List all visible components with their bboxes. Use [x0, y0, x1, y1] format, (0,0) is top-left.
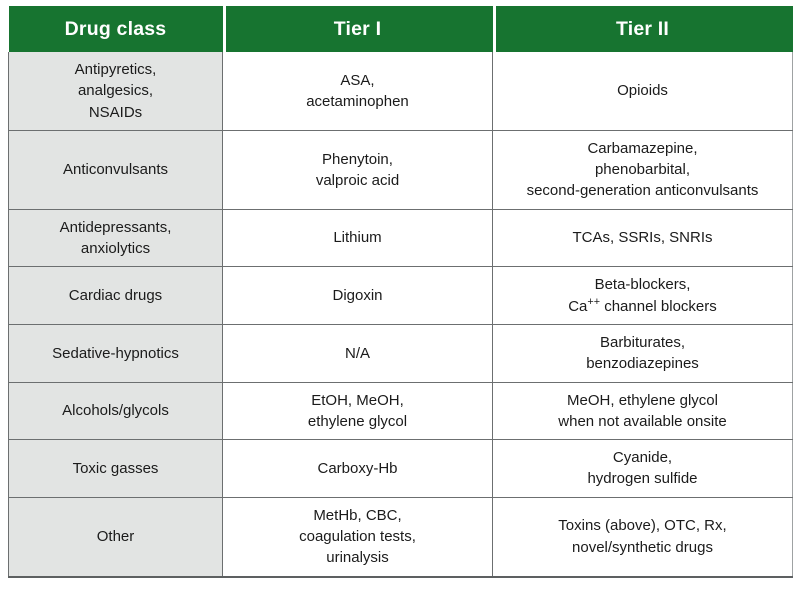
cell-line: Sedative-hypnotics [18, 343, 213, 364]
cell-tier-1: Phenytoin,valproic acid [223, 130, 493, 209]
cell-tier-2: Cyanide,hydrogen sulfide [493, 440, 793, 498]
cell-line: Digoxin [232, 285, 483, 306]
cell-line: Opioids [502, 80, 783, 101]
cell-tier-2: MeOH, ethylene glycolwhen not available … [493, 382, 793, 440]
cell-line: valproic acid [232, 170, 483, 191]
cell-tier-2: Beta-blockers,Ca++ channel blockers [493, 267, 793, 325]
drug-class-tier-table: Drug class Tier I Tier II Antipyretics,a… [8, 6, 793, 578]
table-row: AnticonvulsantsPhenytoin,valproic acidCa… [9, 130, 793, 209]
column-header-tier-2: Tier II [493, 6, 793, 52]
table-row: Antipyretics,analgesics,NSAIDsASA,acetam… [9, 52, 793, 130]
cell-line: urinalysis [232, 547, 483, 568]
cell-tier-2: Barbiturates,benzodiazepines [493, 324, 793, 382]
cell-tier-1: EtOH, MeOH,ethylene glycol [223, 382, 493, 440]
cell-line: Other [18, 526, 213, 547]
table-row: Sedative-hypnoticsN/ABarbiturates,benzod… [9, 324, 793, 382]
cell-line: Alcohols/glycols [18, 400, 213, 421]
cell-drug-class: Alcohols/glycols [9, 382, 223, 440]
cell-drug-class: Antidepressants,anxiolytics [9, 209, 223, 267]
cell-line: Anticonvulsants [18, 159, 213, 180]
cell-line: Barbiturates, [502, 332, 783, 353]
cell-line: NSAIDs [18, 102, 213, 123]
cell-line: EtOH, MeOH, [232, 390, 483, 411]
cell-line: anxiolytics [18, 238, 213, 259]
cell-line: when not available onsite [502, 411, 783, 432]
cell-line: Ca++ channel blockers [502, 296, 783, 317]
cell-tier-1: MetHb, CBC,coagulation tests,urinalysis [223, 497, 493, 576]
cell-line: Antipyretics, [18, 59, 213, 80]
cell-drug-class: Toxic gasses [9, 440, 223, 498]
cell-line: Beta-blockers, [502, 274, 783, 295]
table-row: Toxic gassesCarboxy-HbCyanide,hydrogen s… [9, 440, 793, 498]
cell-drug-class: Anticonvulsants [9, 130, 223, 209]
cell-tier-2: Toxins (above), OTC, Rx,novel/synthetic … [493, 497, 793, 576]
cell-drug-class: Other [9, 497, 223, 576]
table-body: Antipyretics,analgesics,NSAIDsASA,acetam… [9, 52, 793, 577]
cell-line: Cyanide, [502, 447, 783, 468]
cell-line: MetHb, CBC, [232, 505, 483, 526]
cell-line: Cardiac drugs [18, 285, 213, 306]
cell-tier-1: Carboxy-Hb [223, 440, 493, 498]
cell-line: MeOH, ethylene glycol [502, 390, 783, 411]
table-row: Alcohols/glycolsEtOH, MeOH,ethylene glyc… [9, 382, 793, 440]
cell-line: analgesics, [18, 80, 213, 101]
header-row: Drug class Tier I Tier II [9, 6, 793, 52]
column-header-drug-class: Drug class [9, 6, 223, 52]
cell-tier-2: TCAs, SSRIs, SNRIs [493, 209, 793, 267]
cell-line: second-generation anticonvulsants [502, 180, 783, 201]
cell-line: Carboxy-Hb [232, 458, 483, 479]
cell-line: Carbamazepine, [502, 138, 783, 159]
cell-line: phenobarbital, [502, 159, 783, 180]
table-header: Drug class Tier I Tier II [9, 6, 793, 52]
cell-tier-2: Opioids [493, 52, 793, 130]
cell-line: Toxic gasses [18, 458, 213, 479]
cell-drug-class: Cardiac drugs [9, 267, 223, 325]
cell-line: novel/synthetic drugs [502, 537, 783, 558]
cell-drug-class: Antipyretics,analgesics,NSAIDs [9, 52, 223, 130]
cell-drug-class: Sedative-hypnotics [9, 324, 223, 382]
cell-tier-1: Lithium [223, 209, 493, 267]
cell-line: TCAs, SSRIs, SNRIs [502, 227, 783, 248]
cell-line: Antidepressants, [18, 217, 213, 238]
table-row: Cardiac drugsDigoxinBeta-blockers,Ca++ c… [9, 267, 793, 325]
cell-line: Lithium [232, 227, 483, 248]
table-row: OtherMetHb, CBC,coagulation tests,urinal… [9, 497, 793, 576]
column-header-tier-1: Tier I [223, 6, 493, 52]
cell-line: N/A [232, 343, 483, 364]
table-row: Antidepressants,anxiolyticsLithiumTCAs, … [9, 209, 793, 267]
cell-tier-1: ASA,acetaminophen [223, 52, 493, 130]
cell-line: hydrogen sulfide [502, 468, 783, 489]
cell-line: Phenytoin, [232, 149, 483, 170]
cell-line: benzodiazepines [502, 353, 783, 374]
cell-tier-2: Carbamazepine,phenobarbital,second-gener… [493, 130, 793, 209]
cell-line: coagulation tests, [232, 526, 483, 547]
cell-line: Toxins (above), OTC, Rx, [502, 515, 783, 536]
cell-line: acetaminophen [232, 91, 483, 112]
cell-tier-1: Digoxin [223, 267, 493, 325]
cell-line: ASA, [232, 70, 483, 91]
table-canvas: Drug class Tier I Tier II Antipyretics,a… [0, 0, 800, 614]
cell-line: ethylene glycol [232, 411, 483, 432]
cell-tier-1: N/A [223, 324, 493, 382]
